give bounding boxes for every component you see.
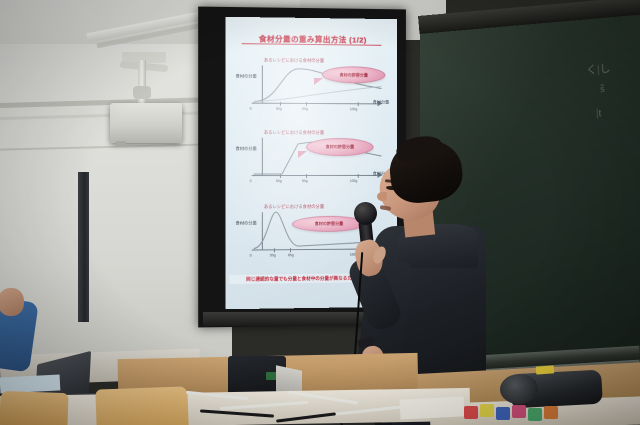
cable-1 xyxy=(186,391,248,400)
chalk-pink xyxy=(512,405,526,418)
microphone-icon xyxy=(354,202,377,225)
wall-post xyxy=(78,172,89,322)
chalk-yellow xyxy=(480,404,494,417)
chalk-tray-contents xyxy=(460,404,580,422)
cable-2 xyxy=(220,401,308,410)
cable-dark-2 xyxy=(276,412,336,422)
chalk-orange xyxy=(544,406,558,419)
camera-label-tag xyxy=(536,365,555,374)
classroom-presentation-photo: く|し ŝ |t 食材分量の重み算出方法 (1/2) あるレシピにおける食材の分… xyxy=(0,0,640,425)
chalk-mark-2: ŝ xyxy=(600,83,605,95)
chalk-mark-1: く|し xyxy=(586,60,612,78)
projector-foot xyxy=(116,141,126,146)
chair-wooden xyxy=(95,386,188,425)
chair-wooden-left xyxy=(0,391,69,425)
presenter-mouth xyxy=(380,205,392,211)
papers-on-table xyxy=(400,396,465,419)
chalk-blue xyxy=(496,407,510,420)
chalk-red xyxy=(464,406,478,419)
cable-bundle xyxy=(180,382,430,424)
attendee-hand xyxy=(0,288,24,316)
projector-rod xyxy=(138,60,146,106)
chalk-green xyxy=(528,408,542,421)
presenter-nose xyxy=(377,192,387,201)
projector-joint xyxy=(133,86,151,99)
cable-dark-1 xyxy=(200,409,274,417)
projector-body xyxy=(110,103,182,143)
chalk-mark-3: |t xyxy=(596,107,602,119)
